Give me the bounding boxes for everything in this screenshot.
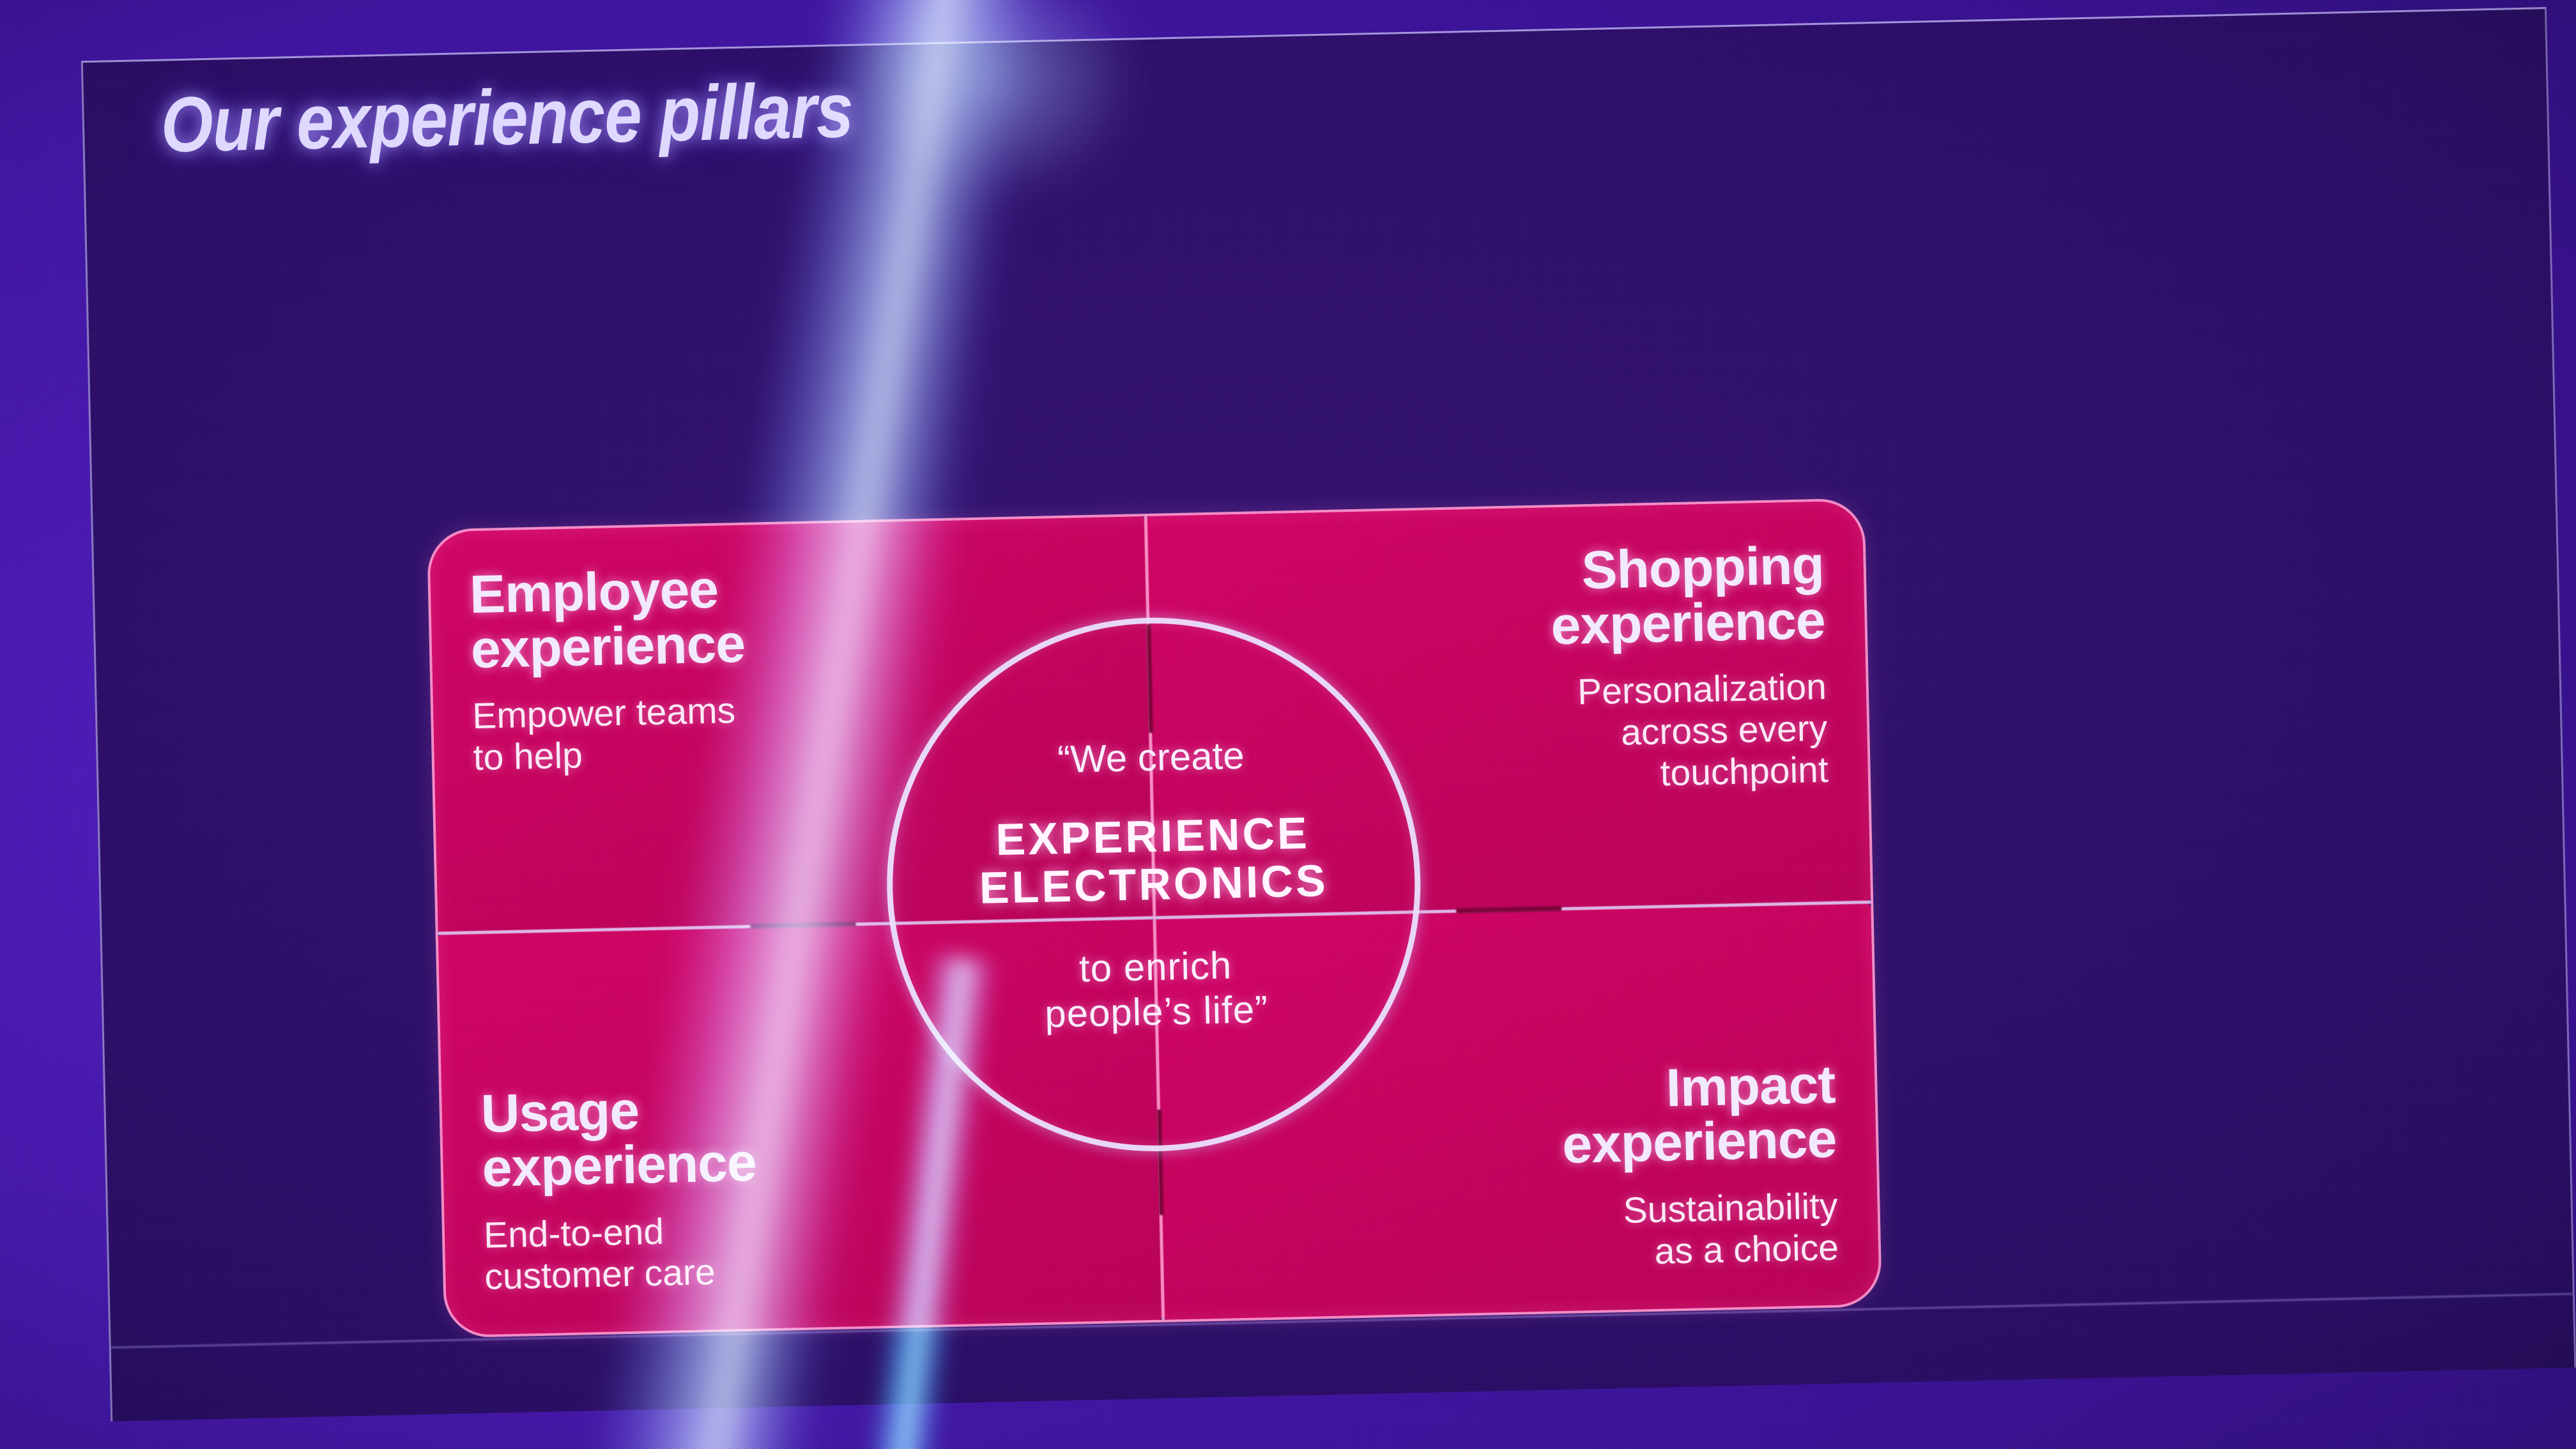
- pillar-subtitle-employee: Empower teams to help: [472, 682, 1112, 779]
- pillar-title-shopping: Shopping experience: [1186, 538, 1826, 661]
- pillar-card-usage-experience[interactable]: Usage experience End-to-end customer car…: [438, 918, 1163, 1336]
- pillar-subtitle-shopping: Personalization across every touchpoint: [1188, 666, 1828, 805]
- slide-frame: Our experience pillars Employee experien…: [81, 7, 2576, 1422]
- pillar-title-line2: experience: [470, 608, 1109, 677]
- pillar-title-employee: Employee experience: [469, 553, 1109, 677]
- experience-pillars-grid: Employee experience Empower teams to hel…: [429, 500, 1880, 1337]
- pillar-subtitle-impact: Sustainability as a choice: [1200, 1186, 1839, 1283]
- pillar-title-impact: Impact experience: [1197, 1057, 1837, 1180]
- page-title: Our experience pillars: [160, 65, 854, 170]
- pillar-title-usage: Usage experience: [480, 1073, 1121, 1196]
- pillar-card-impact-experience[interactable]: Impact experience Sustainability as a ch…: [1154, 902, 1879, 1320]
- pillar-subtitle-usage: End-to-end customer care: [483, 1201, 1123, 1298]
- slide-canvas: Our experience pillars Employee experien…: [81, 7, 2576, 1422]
- pillar-card-employee-experience[interactable]: Employee experience Empower teams to hel…: [429, 516, 1154, 933]
- projected-slide-photo: Our experience pillars Employee experien…: [0, 0, 2576, 1449]
- pillar-title-line2: experience: [482, 1128, 1121, 1196]
- pillar-card-shopping-experience[interactable]: Shopping experience Personalization acro…: [1146, 500, 1871, 918]
